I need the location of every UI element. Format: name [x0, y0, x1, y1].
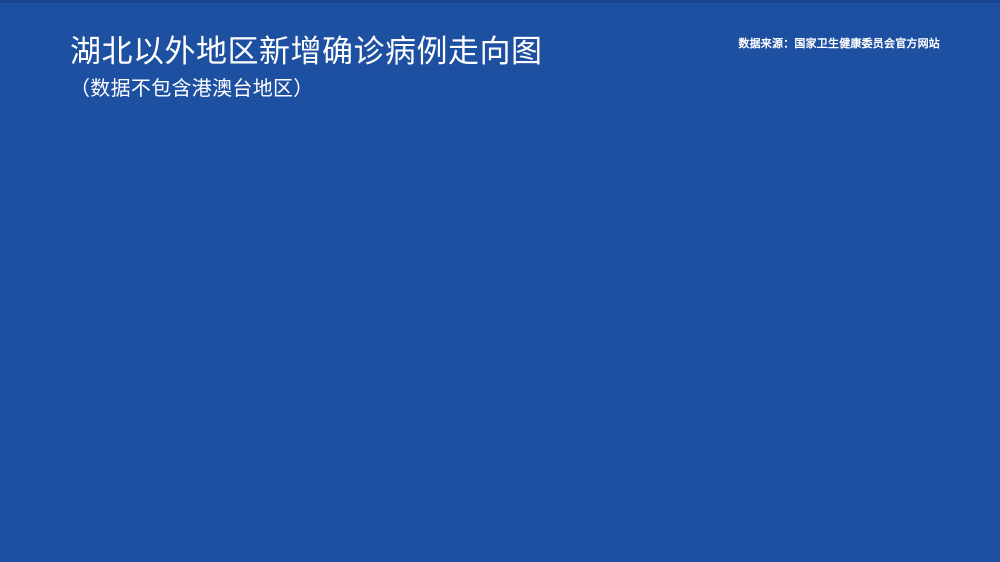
page-subtitle: （数据不包含港澳台地区）	[70, 76, 690, 102]
top-edge-strip	[0, 0, 1000, 3]
chart-plot-area	[0, 118, 1000, 562]
title-block: 湖北以外地区新增确诊病例走向图 （数据不包含港澳台地区）	[70, 32, 690, 102]
data-source-label: 数据来源：国家卫生健康委员会官方网站	[738, 37, 940, 51]
page-title: 湖北以外地区新增确诊病例走向图	[70, 32, 690, 72]
slide-canvas: 湖北以外地区新增确诊病例走向图 （数据不包含港澳台地区） 数据来源：国家卫生健康…	[0, 0, 1000, 562]
